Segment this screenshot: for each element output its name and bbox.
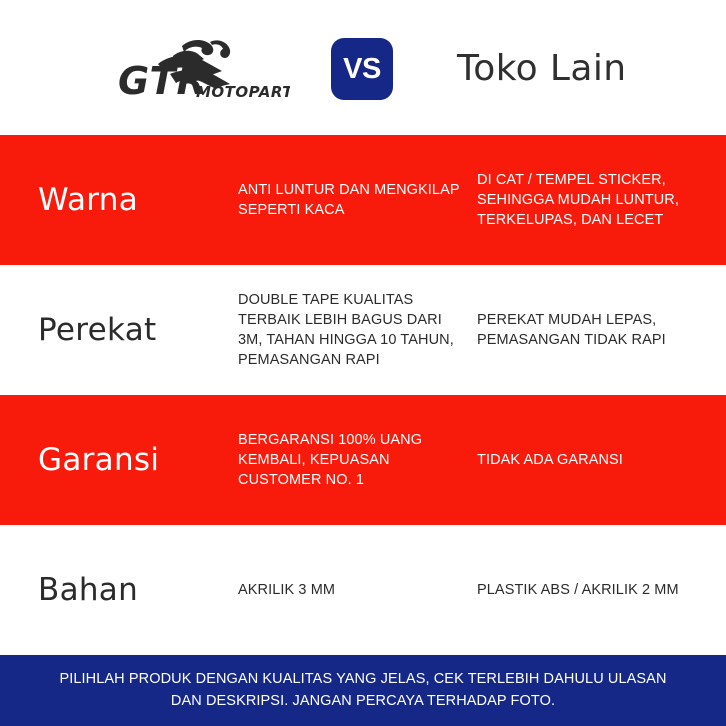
row-theirs-garansi: TIDAK ADA GARANSI (477, 450, 715, 470)
gtr-motoparts-logo: GTR MOTOPARTS (118, 30, 290, 102)
row-ours-perekat: DOUBLE TAPE KUALITAS TERBAIK LEBIH BAGUS… (238, 290, 460, 370)
comparison-row-bahan: Bahan AKRILIK 3 MM PLASTIK ABS / AKRILIK… (0, 525, 726, 655)
row-ours-bahan: AKRILIK 3 MM (238, 580, 460, 600)
row-theirs-perekat: PEREKAT MUDAH LEPAS, PEMASANGAN TIDAK RA… (477, 310, 715, 350)
footer-message: PILIHLAH PRODUK DENGAN KUALITAS YANG JEL… (43, 669, 683, 711)
row-ours-warna: ANTI LUNTUR DAN MENGKILAP SEPERTI KACA (238, 180, 460, 220)
vs-label: VS (343, 53, 381, 86)
row-theirs-bahan: PLASTIK ABS / AKRILIK 2 MM (477, 580, 715, 600)
row-ours-garansi: BERGARANSI 100% UANG KEMBALI, KEPUASAN C… (238, 430, 460, 490)
row-label-garansi: Garansi (38, 442, 159, 478)
vs-badge: VS (331, 38, 393, 100)
competitor-title: Toko Lain (457, 48, 626, 89)
comparison-row-garansi: Garansi BERGARANSI 100% UANG KEMBALI, KE… (0, 395, 726, 525)
row-theirs-warna: DI CAT / TEMPEL STICKER, SEHINGGA MUDAH … (477, 170, 715, 230)
row-label-perekat: Perekat (38, 312, 156, 348)
svg-text:MOTOPARTS: MOTOPARTS (196, 83, 290, 101)
comparison-row-warna: Warna ANTI LUNTUR DAN MENGKILAP SEPERTI … (0, 135, 726, 265)
svg-text:GTR: GTR (118, 59, 207, 102)
header: GTR MOTOPARTS VS Toko Lain (0, 0, 726, 135)
comparison-infographic: GTR MOTOPARTS VS Toko Lain Warna ANTI LU… (0, 0, 726, 726)
footer-banner: PILIHLAH PRODUK DENGAN KUALITAS YANG JEL… (0, 655, 726, 726)
row-label-bahan: Bahan (38, 572, 138, 608)
row-label-warna: Warna (38, 182, 138, 218)
comparison-row-perekat: Perekat DOUBLE TAPE KUALITAS TERBAIK LEB… (0, 265, 726, 395)
